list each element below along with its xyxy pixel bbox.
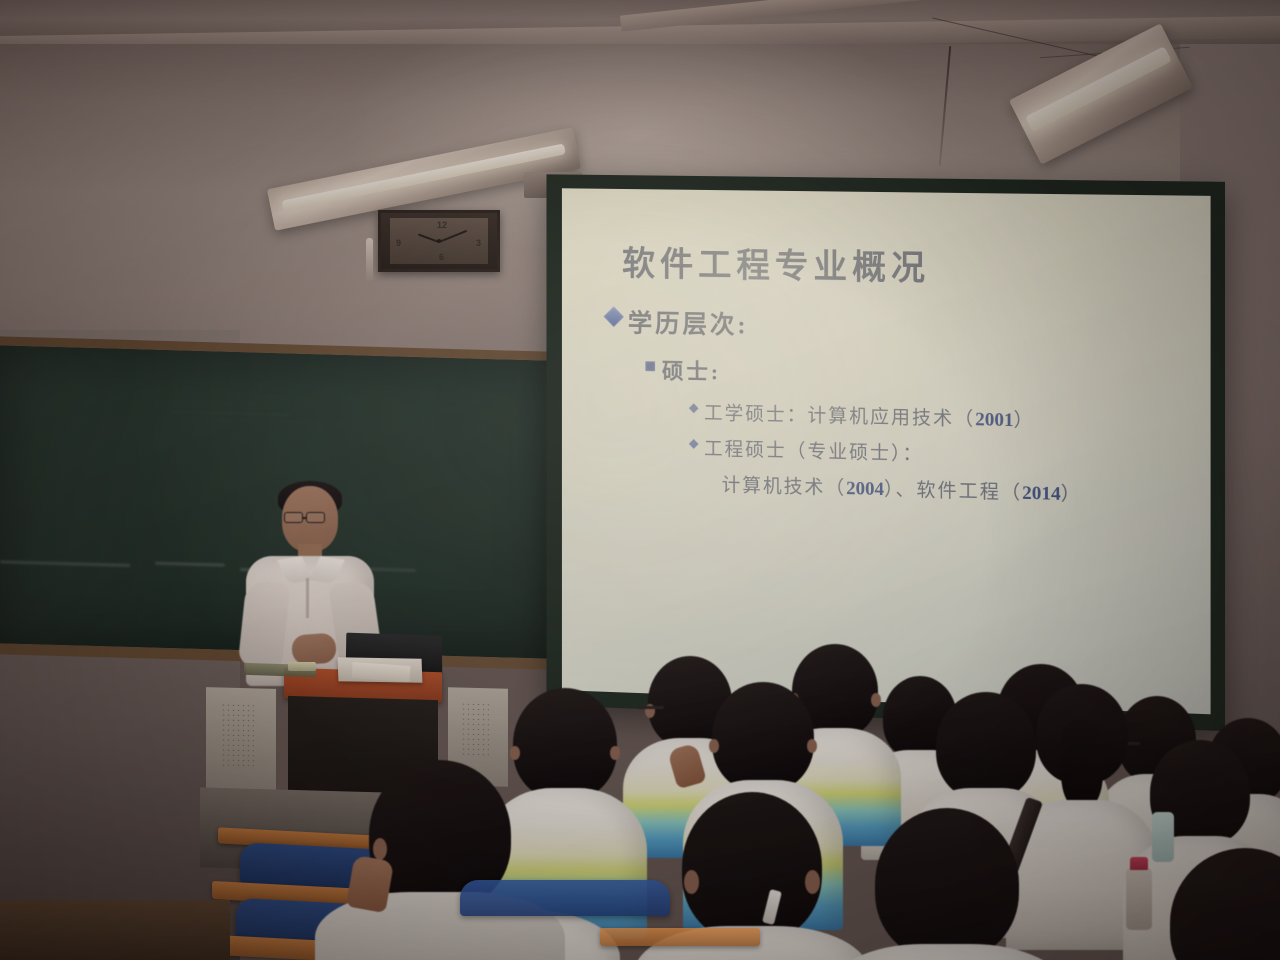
presenter-glasses-bridge [303,517,307,519]
ear [871,693,881,707]
year-2014: 2014 [1022,483,1061,505]
year-2001: 2001 [975,409,1013,431]
student-head [1170,848,1280,960]
ear [709,739,719,753]
bullet-level1: 学历层次: [606,303,1192,350]
dot-bullet-icon [689,403,699,413]
bullet-level3-text: 工学硕士：计算机应用技术（2001） [704,398,1035,433]
bullet-level2: 硕士: [645,353,1192,396]
ponytail-hair [1061,718,1103,808]
ear [610,746,620,760]
chalk-smudge [155,562,225,567]
ear [807,739,817,753]
ear [684,870,699,894]
slide-bullet-list: 学历层次: 硕士: 工学硕士：计算机应用技术（2001） 工程硕士（专业硕士）：… [606,303,1192,509]
ear [510,746,520,760]
desk-mid-1 [600,928,760,946]
student-shirt [827,944,1067,960]
clock-center-pin [437,239,441,243]
ear [805,870,820,894]
bullet-text-part: ） [1014,410,1035,432]
clock-numeral-6: 6 [439,252,444,262]
bullet-text-part: 工学硕士：计算机应用技术（ [704,403,975,430]
seat-mid-1 [460,880,670,916]
clock-numeral-12: 12 [437,220,447,230]
bullet-level3-text: 工程硕士（专业硕士）： [704,434,924,466]
bullet-text-part: ） [1061,484,1082,506]
student-glasses [638,706,664,709]
clock-face: 12 9 3 6 [390,218,488,264]
presenter-glasses-left-lens [284,512,303,523]
bullet-text-part: ）、软件工程（ [884,479,1022,504]
bullet-level4-text: 计算机技术（2004）、软件工程（2014） [722,470,1082,507]
student-front-far-right [1150,848,1280,960]
square-bullet-icon [645,361,655,371]
year-2004: 2004 [846,478,884,500]
wall-clock: 12 9 3 6 [378,210,500,272]
slide-title: 软件工程专业概况 [622,236,930,289]
bullet-text-part: 计算机技术（ [722,475,847,499]
student-head [712,682,814,792]
student-head [682,792,822,942]
bullet-level2-text: 硕士: [662,354,721,387]
bullet-level4-programs: 计算机技术（2004）、软件工程（2014） [722,470,1192,510]
presenter-glasses-right-lens [306,512,325,523]
chalk-smudge [170,410,290,416]
student-head [875,808,1019,960]
student-front-right [852,808,1042,960]
ear [373,838,387,860]
chalk-smudge [0,560,130,567]
clock-numeral-3: 3 [476,238,481,248]
lecture-hall-scene: 12 9 3 6 软件工程专业概况 学历层次: [0,0,1280,960]
dot-bullet-icon [689,439,699,449]
clock-minute-hand [439,230,468,243]
bullet-level3-professional-masters: 工程硕士（专业硕士）： [690,433,1192,472]
bottle-cap [1130,857,1148,870]
bullet-level3-masters-eng: 工学硕士：计算机应用技术（2001） [690,398,1192,437]
diamond-bullet-icon [603,306,624,327]
water-bottle [1126,868,1152,930]
bullet-level1-text: 学历层次: [628,304,749,342]
clock-numeral-9: 9 [396,238,401,248]
student-head [936,692,1036,800]
wall-sensor-strip [366,238,373,282]
